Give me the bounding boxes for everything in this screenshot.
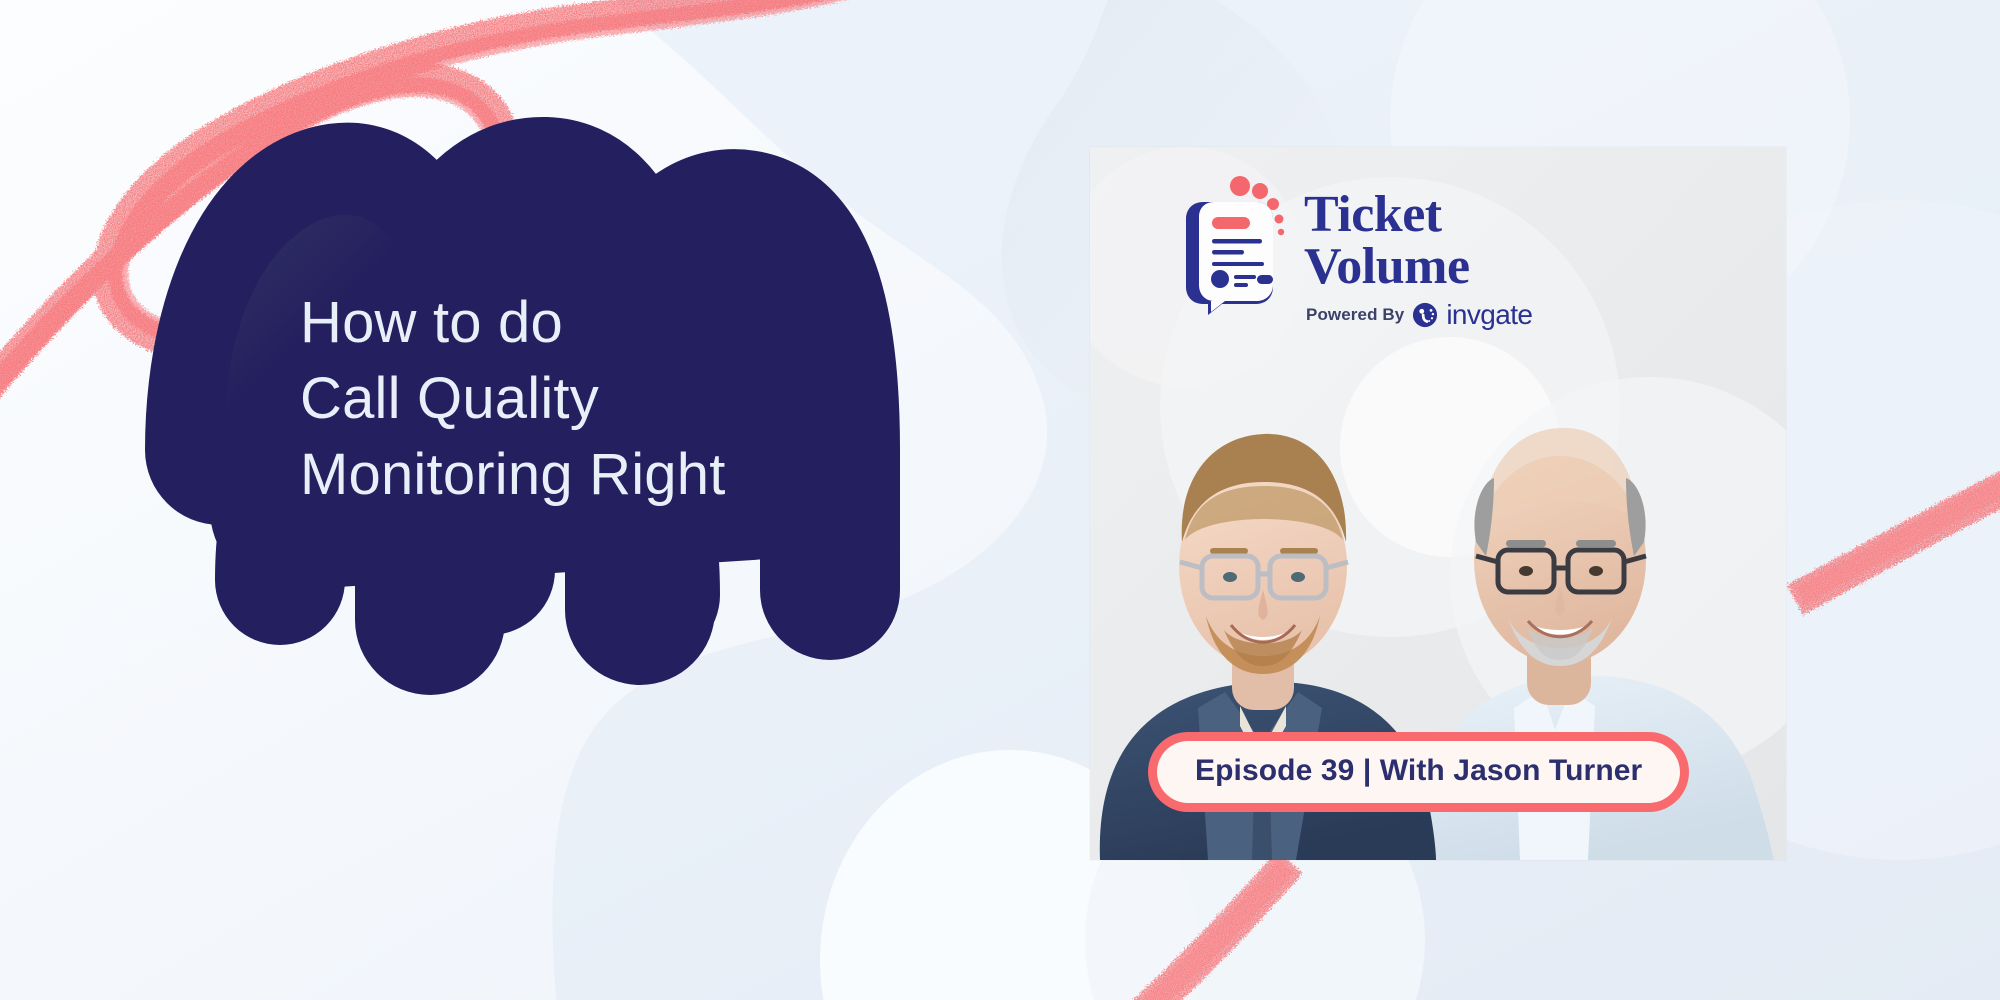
page-title: How to do Call Quality Monitoring Right [300,285,840,513]
powered-by-label: Powered By [1306,305,1404,325]
title-line-2: Call Quality [300,361,840,437]
title-line-3: Monitoring Right [300,437,840,513]
invgate-logo-icon [1412,302,1438,328]
podcast-episode-card: Ticket Volume Powered By [1090,147,1786,860]
logo-title-line-2: Volume [1304,241,1532,293]
episode-badge-inner: Episode 39 | With Jason Turner [1157,741,1680,803]
ticket-volume-logo: Ticket Volume Powered By [1178,175,1532,331]
episode-badge-text: Episode 39 | With Jason Turner [1195,754,1642,788]
title-line-1: How to do [300,285,840,361]
episode-badge: Episode 39 | With Jason Turner [1148,732,1689,812]
poster-canvas: How to do Call Quality Monitoring Right [0,0,2000,1000]
powered-by-row: Powered By invgate [1304,299,1532,331]
logo-title-line-1: Ticket [1304,189,1532,241]
invgate-wordmark: invgate [1446,299,1532,331]
ticket-speech-bubble-icon [1178,175,1290,315]
